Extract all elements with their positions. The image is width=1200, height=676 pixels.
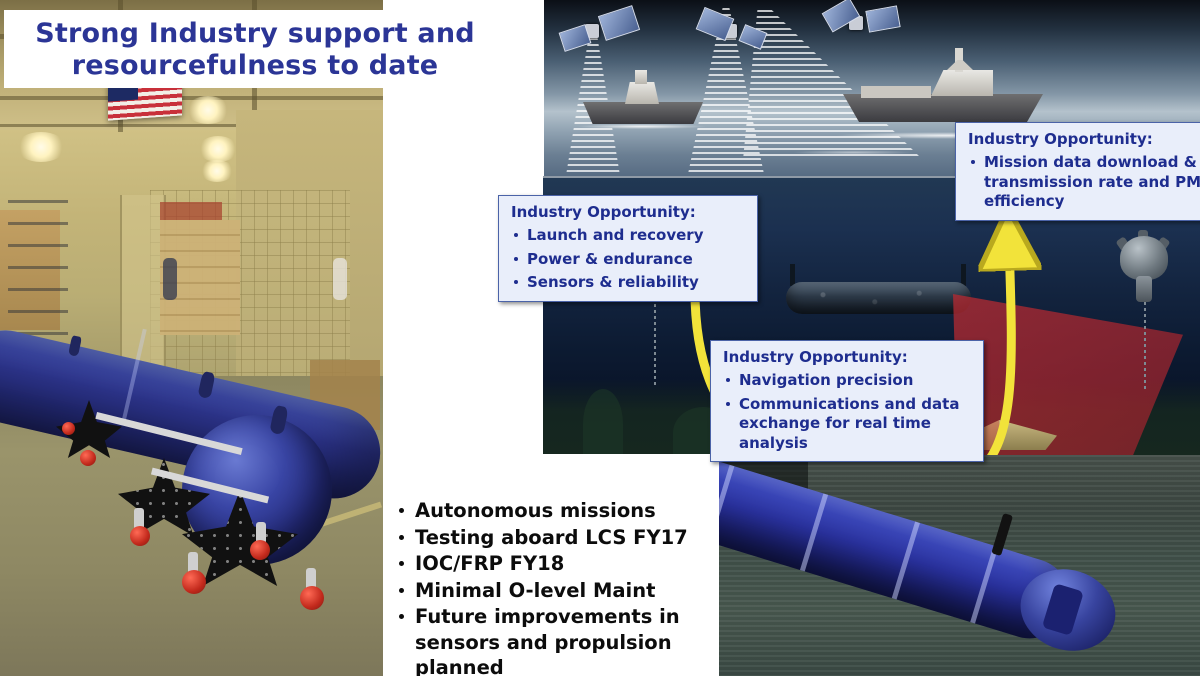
undersea-vehicle-floating (718, 455, 1127, 669)
callout-list: Navigation precision Communications and … (723, 371, 973, 453)
caster-wheel (130, 526, 150, 546)
slide-canvas: Strong Industry support and resourcefuln… (0, 0, 1200, 676)
title-line-1: Strong Industry support and (4, 18, 506, 50)
undersea-vehicle (786, 282, 971, 314)
caster-wheel (300, 586, 324, 610)
title-line-2: resourcefulness to date (4, 50, 506, 82)
seaweed (583, 389, 623, 459)
list-item: IOC/FRP FY18 (397, 551, 718, 577)
key-points-list: Autonomous missions Testing aboard LCS F… (383, 454, 718, 676)
surface-glint (793, 150, 913, 155)
caster-wheel (250, 540, 270, 560)
list-item: Minimal O-level Maint (397, 578, 718, 604)
callout-list: Launch and recovery Power & endurance Se… (511, 226, 747, 293)
callout-heading: Industry Opportunity: (968, 130, 1200, 149)
callout-industry-opportunity-launch: Industry Opportunity: Launch and recover… (498, 195, 758, 302)
title-band: Strong Industry support and resourcefuln… (4, 10, 506, 88)
list-item: Future improvements in sensors and propu… (397, 604, 718, 676)
ship-distant (583, 76, 703, 126)
worker-figure (333, 258, 347, 300)
uuv-in-water-photo (718, 455, 1200, 676)
key-points-panel: Autonomous missions Testing aboard LCS F… (383, 454, 718, 676)
ceiling-light (186, 96, 230, 124)
mine-mooring-chain (1144, 302, 1146, 390)
ceiling-light (16, 132, 66, 162)
list-item: Testing aboard LCS FY17 (397, 525, 718, 551)
callout-item: Sensors & reliability (511, 273, 747, 293)
uuv-on-cradle (10, 300, 350, 590)
moored-mine (1116, 236, 1172, 302)
list-item: Autonomous missions (397, 498, 718, 524)
caster-wheel (62, 422, 75, 435)
callout-list: Mission data download & transmission rat… (968, 153, 1200, 212)
callout-heading: Industry Opportunity: (723, 348, 973, 367)
callout-item: Mission data download & transmission rat… (968, 153, 1200, 212)
page-title: Strong Industry support and resourcefuln… (4, 10, 506, 82)
caster-wheel (182, 570, 206, 594)
callout-item: Launch and recovery (511, 226, 747, 246)
callout-industry-opportunity-navigation: Industry Opportunity: Navigation precisi… (710, 340, 984, 462)
ceiling-light (200, 160, 234, 182)
callout-item: Navigation precision (723, 371, 973, 391)
warehouse-photo (0, 0, 384, 676)
callout-item: Communications and data exchange for rea… (723, 395, 973, 454)
ceiling-light (198, 136, 238, 162)
white-background-panel (506, 0, 544, 176)
callout-industry-opportunity-data: Industry Opportunity: Mission data downl… (955, 122, 1200, 221)
ship-wake (577, 124, 707, 129)
callout-heading: Industry Opportunity: (511, 203, 747, 222)
callout-item: Power & endurance (511, 250, 747, 270)
worker-figure (163, 258, 177, 300)
caster-wheel (80, 450, 96, 466)
